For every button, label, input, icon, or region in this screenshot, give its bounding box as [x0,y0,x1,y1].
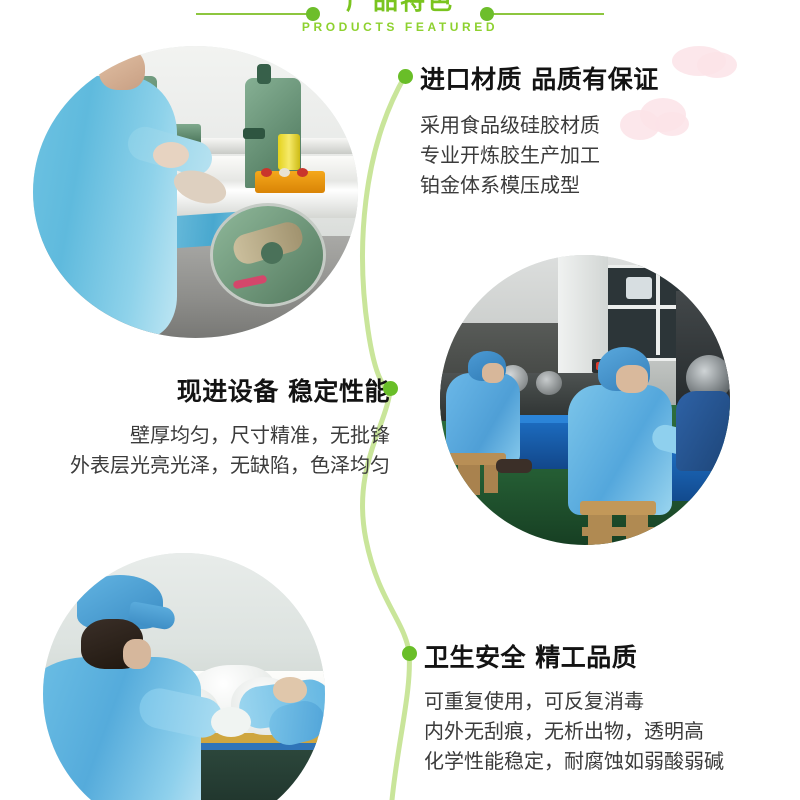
section-line: 可重复使用，可反复消毒 [424,686,796,716]
page-header: 产品特色 PRODUCTS FEATURED [0,0,800,46]
product-features-page: 产品特色 PRODUCTS FEATURED [0,0,800,800]
section-title-equipment: 现进设备 稳定性能 [20,372,390,408]
section-line: 壁厚均匀，尺寸精准，无批锋 [20,420,390,450]
photo-calendering-machine [33,46,358,338]
section-hygiene: 卫生安全 精工品质 可重复使用，可反复消毒 内外无刮痕，无析出物，透明高 化学性… [424,638,796,776]
section-material: 进口材质 品质有保证 采用食品级硅胶材质 专业开炼胶生产加工 铂金体系模压成型 [420,60,780,200]
photo-molding-workshop [440,255,730,545]
section-line: 铂金体系模压成型 [420,170,780,200]
section-equipment: 现进设备 稳定性能 壁厚均匀，尺寸精准，无批锋 外表层光亮光泽，无缺陷，色泽均匀 [20,372,390,480]
section-line: 内外无刮痕，无析出物，透明高 [424,716,796,746]
photo-inspection-table [43,553,325,800]
section-line: 专业开炼胶生产加工 [420,140,780,170]
section-line: 采用食品级硅胶材质 [420,110,780,140]
page-title: 产品特色 [0,0,800,16]
section-line: 外表层光亮光泽，无缺陷，色泽均匀 [20,450,390,480]
section-line: 化学性能稳定，耐腐蚀如弱酸弱碱 [424,746,796,776]
section-title-material: 进口材质 品质有保证 [420,60,780,96]
section-node-dot-hygiene [402,646,417,661]
page-subtitle: PRODUCTS FEATURED [0,20,800,34]
section-node-dot-equipment [383,381,398,396]
section-node-dot-material [398,69,413,84]
section-title-hygiene: 卫生安全 精工品质 [424,638,796,674]
